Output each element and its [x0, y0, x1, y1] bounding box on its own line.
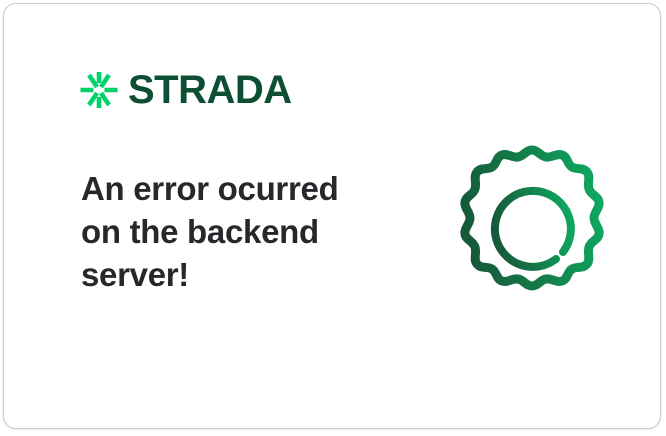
brand-wordmark: STRADA: [128, 70, 292, 110]
error-card: STRADA An error ocurred on the backend s…: [3, 3, 661, 429]
strada-asterisk-icon: [79, 70, 119, 110]
brand-lockup: STRADA: [79, 70, 292, 110]
error-message: An error ocurred on the backend server!: [81, 167, 381, 296]
gear-cog-icon: [450, 142, 614, 308]
